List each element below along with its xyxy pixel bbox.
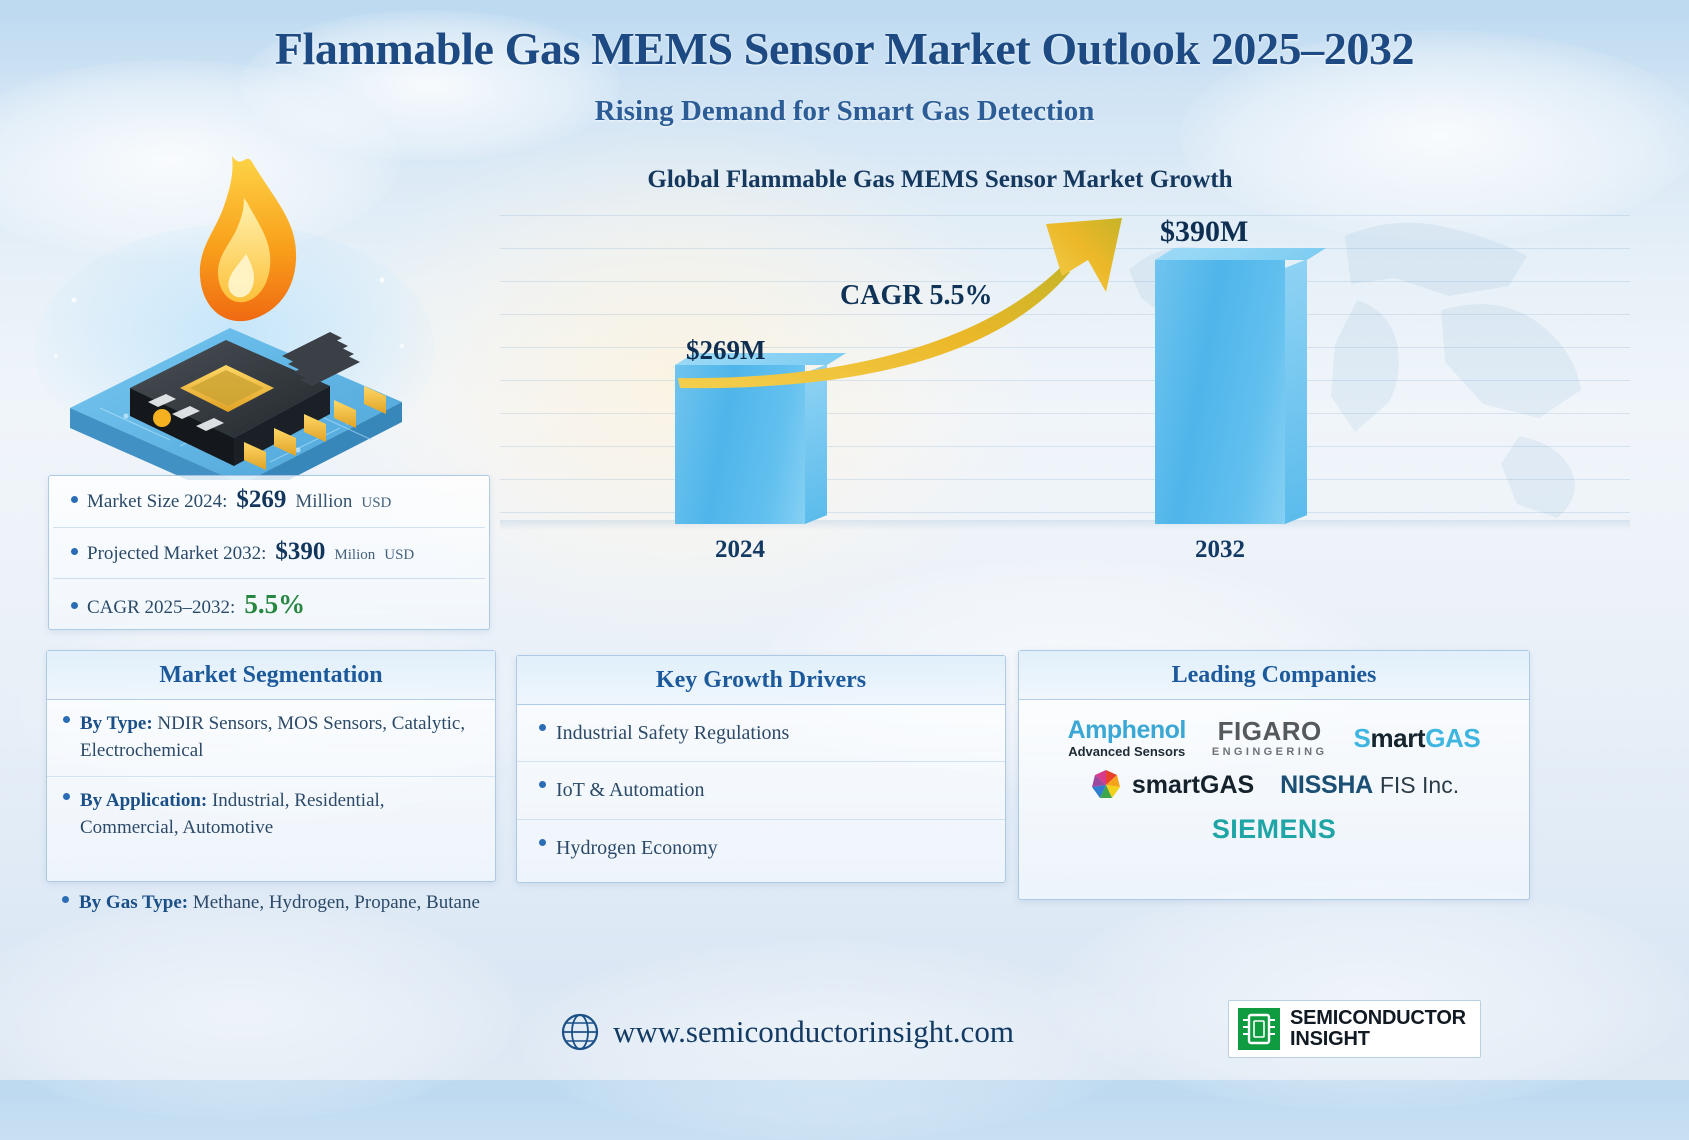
siemens-wordmark: SIEMENS [1212, 814, 1336, 845]
bullet-icon [539, 724, 546, 731]
globe-icon [560, 1012, 600, 1052]
segmentation-item: By Application: Industrial, Residential,… [47, 777, 495, 853]
page-subtitle: Rising Demand for Smart Gas Detection [0, 95, 1689, 128]
driver-item-text: Hydrogen Economy [556, 834, 718, 862]
driver-item: Industrial Safety Regulations [517, 705, 1005, 762]
leading-companies-card: Leading Companies Amphenol Advanced Sens… [1018, 650, 1530, 900]
x-tick-2024: 2024 [665, 536, 815, 564]
logo-smartgas-blue: SmartGAS [1353, 723, 1480, 754]
company-logo-grid: Amphenol Advanced Sensors FIGARO ENGINGE… [1019, 700, 1529, 855]
gas-type-text: By Gas Type: Methane, Hydrogen, Propane,… [79, 890, 480, 917]
metric-value: $390 [275, 538, 325, 566]
metric-label: Projected Market 2032: [87, 543, 266, 565]
brand-badge: SEMICONDUCTOR INSIGHT [1228, 1000, 1481, 1058]
companies-title: Leading Companies [1019, 651, 1529, 700]
gas-type-key: By Gas Type: [79, 892, 188, 913]
metric-value: 5.5% [244, 589, 305, 620]
driver-item: Hydrogen Economy [517, 820, 1005, 876]
metric-currency: USD [384, 547, 414, 564]
logo-siemens: SIEMENS [1031, 814, 1517, 845]
bullet-icon [539, 839, 546, 846]
logo-nissha-fis: NISSHA FIS Inc. [1280, 771, 1459, 800]
flame-chip-illustration [30, 150, 450, 480]
metric-row: Market Size 2024: $269 Million USD [53, 476, 485, 528]
bullet-icon [539, 781, 546, 788]
segmentation-gas-type-row: By Gas Type: Methane, Hydrogen, Propane,… [62, 890, 480, 917]
segmentation-item-key: By Type: [80, 713, 153, 734]
page-title: Flammable Gas MEMS Sensor Market Outlook… [0, 22, 1689, 75]
metric-label: CAGR 2025–2032: [87, 597, 235, 619]
metric-unit: Million [295, 491, 352, 513]
metric-unit: Milion [334, 547, 375, 564]
x-tick-2032: 2032 [1145, 536, 1295, 564]
key-growth-drivers-card: Key Growth Drivers Industrial Safety Reg… [516, 655, 1006, 883]
amphenol-tagline: Advanced Sensors [1068, 745, 1185, 758]
chip-logo-icon [1238, 1008, 1280, 1050]
bullet-icon [62, 896, 69, 903]
metric-currency: USD [361, 495, 391, 512]
driver-item-text: Industrial Safety Regulations [556, 719, 789, 747]
bullet-icon [71, 548, 78, 555]
segmentation-item-key: By Application: [80, 790, 207, 811]
bullet-icon [71, 496, 78, 503]
bullet-icon [71, 602, 78, 609]
logo-amphenol: Amphenol Advanced Sensors [1068, 718, 1186, 758]
figaro-tagline: ENGINGERING [1212, 747, 1328, 758]
gas-type-value: Methane, Hydrogen, Propane, Butane [193, 892, 480, 913]
metric-value: $269 [236, 486, 286, 514]
segmentation-item-text: By Application: Industrial, Residential,… [80, 788, 479, 842]
nissha-wordmark: NISSHA [1280, 771, 1373, 800]
smartgas-gas: GAS [1425, 723, 1480, 753]
figaro-wordmark: FIGARO [1218, 718, 1322, 744]
hexagon-pinwheel-icon [1089, 768, 1123, 802]
nissha-suffix: FIS Inc. [1380, 772, 1459, 799]
smartgas-s: S [1353, 723, 1370, 753]
brand-name: SEMICONDUCTOR INSIGHT [1290, 1008, 1466, 1049]
brand-line-1: SEMICONDUCTOR [1290, 1008, 1466, 1029]
metric-label: Market Size 2024: [87, 491, 227, 513]
smartgas-mart: mart [1370, 723, 1425, 753]
website-url[interactable]: www.semiconductorinsight.com [613, 1014, 1014, 1050]
segmentation-item-text: By Type: NDIR Sensors, MOS Sensors, Cata… [80, 711, 479, 765]
logo-figaro: FIGARO ENGINGERING [1212, 718, 1328, 758]
segmentation-title: Market Segmentation [47, 651, 495, 700]
bullet-icon [63, 793, 70, 800]
market-growth-chart: Global Flammable Gas MEMS Sensor Market … [500, 160, 1630, 570]
metric-row: Projected Market 2032: $390 Milion USD [53, 528, 485, 580]
market-segmentation-card: Market Segmentation By Type: NDIR Sensor… [46, 650, 496, 882]
cagr-annotation: CAGR 5.5% [840, 280, 992, 312]
key-metrics-card: Market Size 2024: $269 Million USD Proje… [48, 475, 490, 630]
drivers-title: Key Growth Drivers [517, 656, 1005, 705]
logo-smartgas-hex: smartGAS [1089, 768, 1254, 802]
amphenol-wordmark: Amphenol [1068, 718, 1186, 743]
bullet-icon [63, 716, 70, 723]
driver-item: IoT & Automation [517, 762, 1005, 819]
segmentation-item: By Type: NDIR Sensors, MOS Sensors, Cata… [47, 700, 495, 777]
footer-website[interactable]: www.semiconductorinsight.com [560, 1012, 1014, 1052]
driver-item-text: IoT & Automation [556, 776, 705, 804]
smartgas-wordmark: smartGAS [1132, 771, 1254, 800]
metric-row: CAGR 2025–2032: 5.5% [53, 579, 485, 631]
brand-line-2: INSIGHT [1290, 1029, 1466, 1050]
chart-title: Global Flammable Gas MEMS Sensor Market … [500, 166, 1380, 194]
